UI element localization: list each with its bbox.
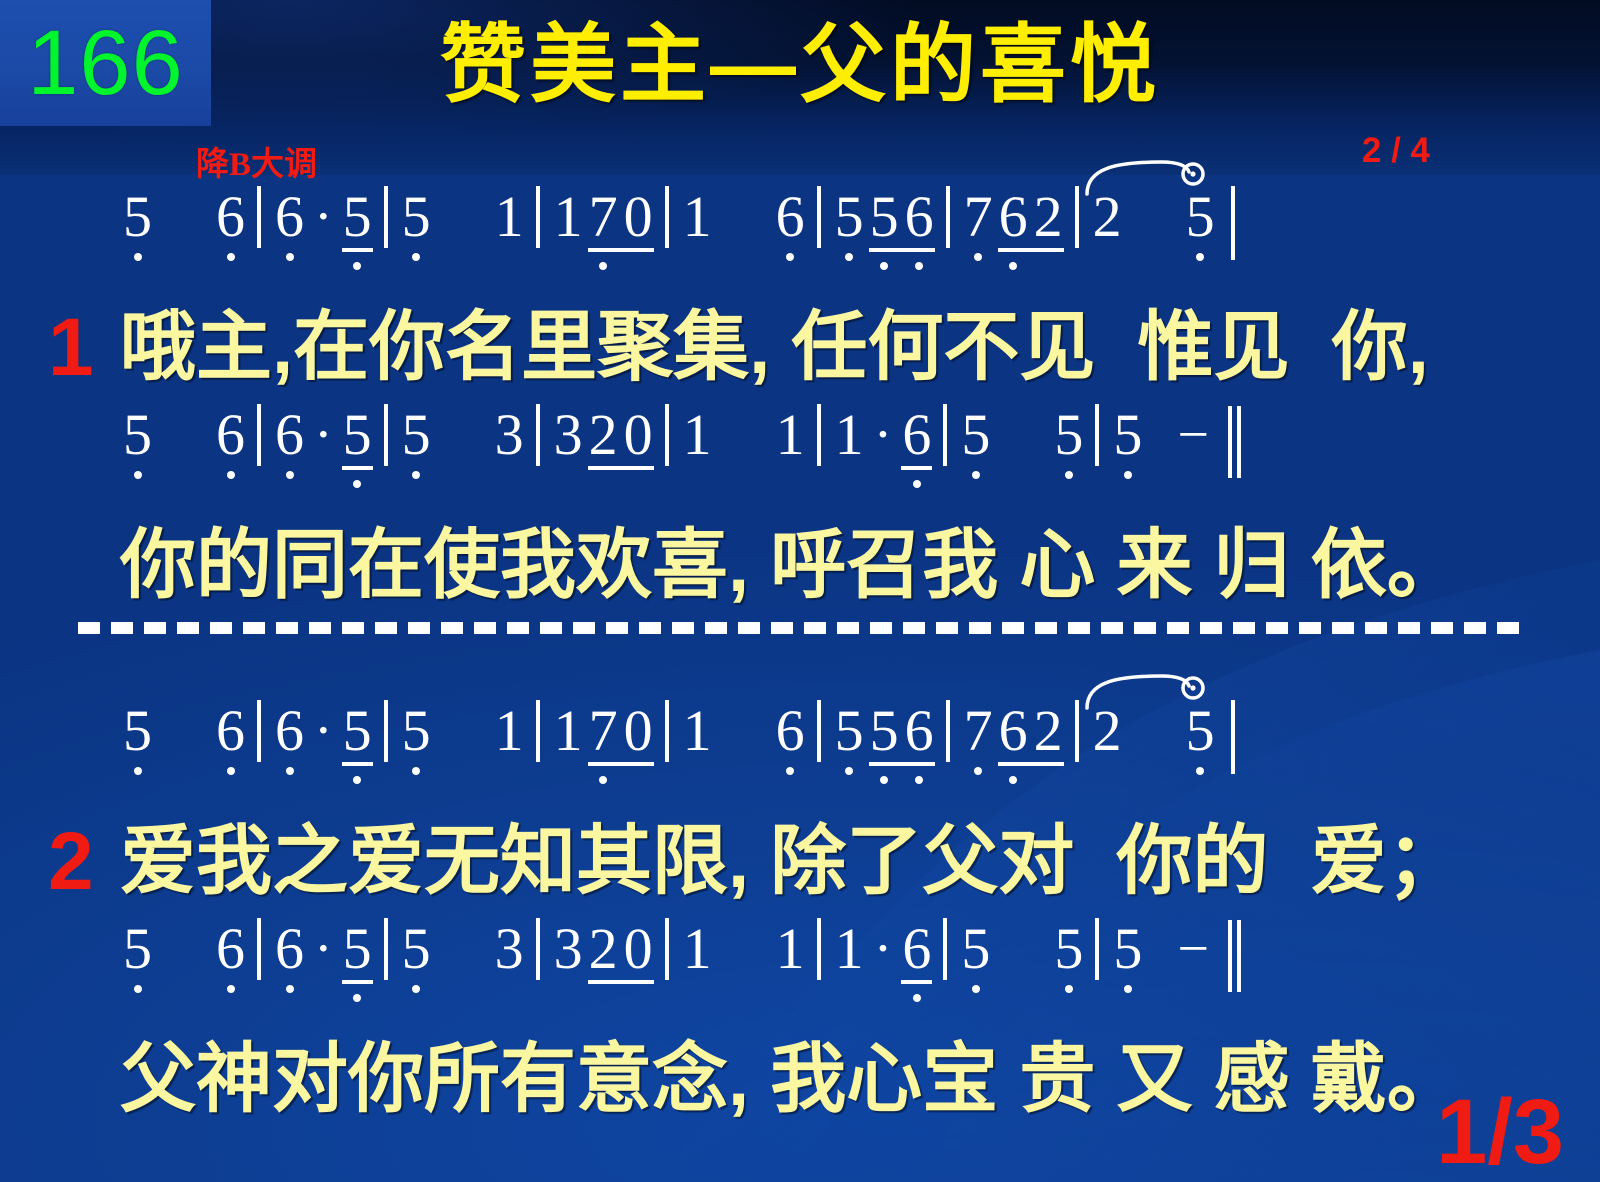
measure: 556 — [817, 186, 946, 248]
measure: 5− — [1095, 404, 1222, 466]
beam-group: 56 — [867, 700, 937, 762]
note: 6 — [213, 186, 248, 248]
note: 5 — [340, 700, 375, 762]
dot-separator: · — [867, 918, 900, 980]
dot-separator: · — [307, 918, 340, 980]
note: 5 — [399, 918, 434, 980]
note: 5 — [867, 186, 902, 248]
measure: 55 — [943, 918, 1095, 980]
beam-group: 62 — [996, 186, 1066, 248]
key-signature-label: 降B大调 — [196, 137, 317, 185]
note: 5 — [120, 186, 155, 248]
note: 5 — [120, 918, 155, 980]
note: 7 — [961, 186, 996, 248]
lyric-row: 1 哦主,在你名里聚集, 任何不见 惟见 你, — [0, 296, 1600, 400]
measure: 1·6 — [817, 404, 944, 466]
note: 1 — [492, 700, 527, 762]
note: 6 — [902, 186, 937, 248]
note: 2 — [586, 918, 621, 980]
notation-system-4: 56 6·5 53 320 11 1·6 55 5− — [0, 918, 1600, 1028]
note: 3 — [492, 404, 527, 466]
note: 6 — [272, 404, 307, 466]
barline — [1231, 700, 1235, 774]
stanza-divider — [78, 622, 1522, 634]
note: 5 — [399, 186, 434, 248]
measure: 1·6 — [817, 918, 944, 980]
notation-system-3: 56 6·5 51 170 16 556 762 25 — [0, 700, 1600, 810]
note: 5 — [832, 700, 867, 762]
sustain-dash: − — [1173, 918, 1213, 980]
measure: 762 — [946, 700, 1075, 762]
measure: 56 — [120, 404, 257, 466]
note: 6 — [213, 918, 248, 980]
dot-separator: · — [867, 404, 900, 466]
sustain-dash: − — [1173, 404, 1213, 466]
dot-separator: · — [307, 404, 340, 466]
note: 1 — [832, 404, 867, 466]
note: 2 — [586, 404, 621, 466]
lyric-row: 2 爱我之爱无知其限, 除了父对 你的 爱； — [0, 810, 1600, 914]
measure: 11 — [665, 404, 817, 466]
measure: 11 — [665, 918, 817, 980]
lyric-row: 你的同在使我欢喜, 呼召我 心 来 归 依。 — [0, 514, 1600, 618]
note: 1 — [773, 404, 808, 466]
note: 6 — [996, 700, 1031, 762]
dot-separator: · — [307, 186, 340, 248]
note: 1 — [680, 186, 715, 248]
stanza-2: 56 6·5 51 170 16 556 762 25 — [0, 700, 1600, 1136]
note: 1 — [680, 918, 715, 980]
note: 6 — [902, 700, 937, 762]
measure: 170 — [536, 186, 665, 248]
measure: 6·5 — [257, 918, 384, 980]
lyric-text: 哦主,在你名里聚集, 任何不见 惟见 你, — [120, 310, 1429, 386]
lyric-row: 父神对你所有意念, 我心宝 贵 又 感 戴。 — [0, 1028, 1600, 1132]
note: 0 — [621, 700, 656, 762]
note: 2 — [1031, 700, 1066, 762]
note: 0 — [621, 404, 656, 466]
note: 5 — [958, 918, 993, 980]
note: 5 — [399, 404, 434, 466]
beam-group: 5 — [340, 700, 375, 762]
note: 0 — [621, 186, 656, 248]
measure: 51 — [384, 186, 536, 248]
note: 1 — [680, 700, 715, 762]
note: 5 — [1183, 700, 1218, 762]
lyric-text: 你的同在使我欢喜, 呼召我 心 来 归 依。 — [120, 528, 1463, 604]
stanza-1: 56 6·5 51 170 16 556 762 25 — [0, 186, 1600, 622]
note: 3 — [551, 404, 586, 466]
note: 6 — [899, 404, 934, 466]
note: 6 — [213, 404, 248, 466]
measure: 55 — [943, 404, 1095, 466]
barline — [1231, 186, 1235, 260]
measure: 320 — [536, 918, 665, 980]
measure: 56 — [120, 186, 257, 248]
beam-group: 6 — [899, 918, 934, 980]
note: 3 — [492, 918, 527, 980]
beam-group: 70 — [586, 186, 656, 248]
notation-row: 56 6·5 51 170 16 556 762 25 — [0, 186, 1600, 282]
slide-counter: 2 / 4 — [1362, 131, 1430, 171]
measure: 51 — [384, 700, 536, 762]
beam-group: 20 — [586, 404, 656, 466]
note: 6 — [773, 186, 808, 248]
note: 5 — [867, 700, 902, 762]
note: 5 — [832, 186, 867, 248]
note: 5 — [120, 404, 155, 466]
note: 5 — [1051, 404, 1086, 466]
measure: 56 — [120, 918, 257, 980]
measure-with-slur: 25 — [1075, 186, 1227, 248]
measure: 6·5 — [257, 404, 384, 466]
note: 5 — [120, 700, 155, 762]
note: 1 — [551, 700, 586, 762]
note: 1 — [832, 918, 867, 980]
note: 5 — [958, 404, 993, 466]
measure: 170 — [536, 700, 665, 762]
note: 6 — [899, 918, 934, 980]
note: 5 — [1051, 918, 1086, 980]
notation-system-1: 56 6·5 51 170 16 556 762 25 — [0, 186, 1600, 296]
note: 1 — [551, 186, 586, 248]
note: 2 — [1090, 186, 1125, 248]
beam-group: 5 — [340, 404, 375, 466]
measure-with-slur: 25 — [1075, 700, 1227, 762]
note: 5 — [1110, 404, 1145, 466]
note: 5 — [1183, 186, 1218, 248]
note: 5 — [340, 404, 375, 466]
page-indicator: 1/3 — [1436, 1086, 1564, 1178]
note: 7 — [961, 700, 996, 762]
note: 6 — [773, 700, 808, 762]
notation-row: 56 6·5 53 320 11 1·6 55 5− — [0, 918, 1600, 1014]
measure: 320 — [536, 404, 665, 466]
note: 0 — [621, 918, 656, 980]
note: 1 — [492, 186, 527, 248]
beam-group: 20 — [586, 918, 656, 980]
measure: 56 — [120, 700, 257, 762]
note: 1 — [773, 918, 808, 980]
note: 6 — [213, 700, 248, 762]
final-barline — [1228, 918, 1244, 992]
note: 6 — [272, 918, 307, 980]
measure: 6·5 — [257, 186, 384, 248]
dot-separator: · — [307, 700, 340, 762]
note: 3 — [551, 918, 586, 980]
measure: 5− — [1095, 918, 1222, 980]
notation-system-2: 56 6·5 53 320 11 1·6 55 5− — [0, 404, 1600, 514]
beam-group: 56 — [867, 186, 937, 248]
note: 5 — [1110, 918, 1145, 980]
note: 6 — [272, 700, 307, 762]
notation-row: 56 6·5 53 320 11 1·6 55 5− — [0, 404, 1600, 500]
note: 2 — [1031, 186, 1066, 248]
lyric-text: 爱我之爱无知其限, 除了父对 你的 爱； — [120, 824, 1463, 900]
beam-group: 6 — [899, 404, 934, 466]
note: 5 — [340, 918, 375, 980]
note: 6 — [272, 186, 307, 248]
note: 5 — [340, 186, 375, 248]
verse-number: 1 — [48, 307, 120, 389]
measure: 556 — [817, 700, 946, 762]
lyric-system-3: 2 爱我之爱无知其限, 除了父对 你的 爱； — [0, 810, 1600, 918]
lyric-system-1: 1 哦主,在你名里聚集, 任何不见 惟见 你, — [0, 296, 1600, 404]
note: 7 — [586, 186, 621, 248]
note: 6 — [996, 186, 1031, 248]
notation-row: 56 6·5 51 170 16 556 762 25 — [0, 700, 1600, 796]
measure: 53 — [384, 404, 536, 466]
page-title: 赞美主—父的喜悦 — [0, 20, 1600, 110]
measure: 6·5 — [257, 700, 384, 762]
note: 7 — [586, 700, 621, 762]
beam-group: 70 — [586, 700, 656, 762]
lyric-text: 父神对你所有意念, 我心宝 贵 又 感 戴。 — [120, 1042, 1463, 1118]
verse-number: 2 — [48, 821, 120, 903]
beam-group: 5 — [340, 186, 375, 248]
lyric-system-2: 你的同在使我欢喜, 呼召我 心 来 归 依。 — [0, 514, 1600, 622]
beam-group: 5 — [340, 918, 375, 980]
note: 1 — [680, 404, 715, 466]
note: 5 — [399, 700, 434, 762]
lyric-system-4: 父神对你所有意念, 我心宝 贵 又 感 戴。 — [0, 1028, 1600, 1136]
measure: 16 — [665, 700, 817, 762]
measure: 53 — [384, 918, 536, 980]
note: 2 — [1090, 700, 1125, 762]
measure: 16 — [665, 186, 817, 248]
measure: 762 — [946, 186, 1075, 248]
beam-group: 62 — [996, 700, 1066, 762]
final-barline — [1228, 404, 1244, 478]
